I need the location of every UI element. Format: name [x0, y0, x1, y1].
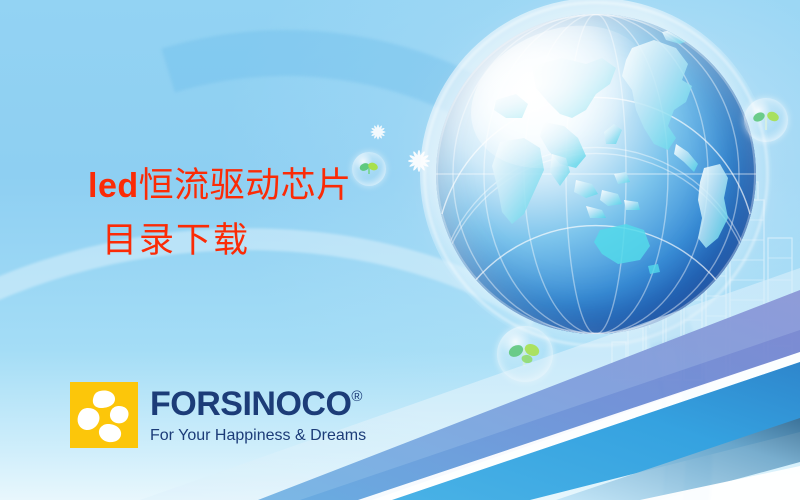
- headline-latin: led: [88, 167, 139, 205]
- promo-banner: led恒流驱动芯片 目录下载 FORSINOCO® For Your Happi…: [0, 0, 800, 500]
- forsinoco-pinwheel-mark-icon: [70, 382, 138, 448]
- leaf-sprout-icon: [352, 152, 386, 186]
- leaf-sprout-icon: [744, 98, 788, 142]
- logo-wordmark-text: FORSINOCO: [150, 385, 351, 423]
- globe-continents-and-graticule: [436, 14, 756, 334]
- logo-tagline: For Your Happiness & Dreams: [150, 428, 366, 444]
- earth-globe: [436, 14, 756, 334]
- leaf-sprout-icon: [497, 326, 553, 382]
- headline-cjk: 恒流驱动芯片: [139, 166, 352, 206]
- headline-line-1: led恒流驱动芯片: [88, 163, 352, 210]
- logo-text-block: FORSINOCO® For Your Happiness & Dreams: [150, 387, 366, 444]
- globe-sphere: [436, 14, 756, 334]
- headline-line-2: 目录下载: [102, 218, 352, 265]
- pinwheel-petals-icon: [70, 382, 138, 448]
- brand-logo: FORSINOCO® For Your Happiness & Dreams: [70, 382, 366, 448]
- registered-trademark-symbol: ®: [351, 388, 362, 405]
- bubble-leaf-center: [497, 326, 553, 382]
- logo-wordmark: FORSINOCO®: [150, 387, 366, 421]
- bubble-leaf-top-right: [744, 98, 788, 142]
- headline: led恒流驱动芯片 目录下载: [88, 163, 352, 265]
- bubble-leaf-small-left: [352, 152, 386, 186]
